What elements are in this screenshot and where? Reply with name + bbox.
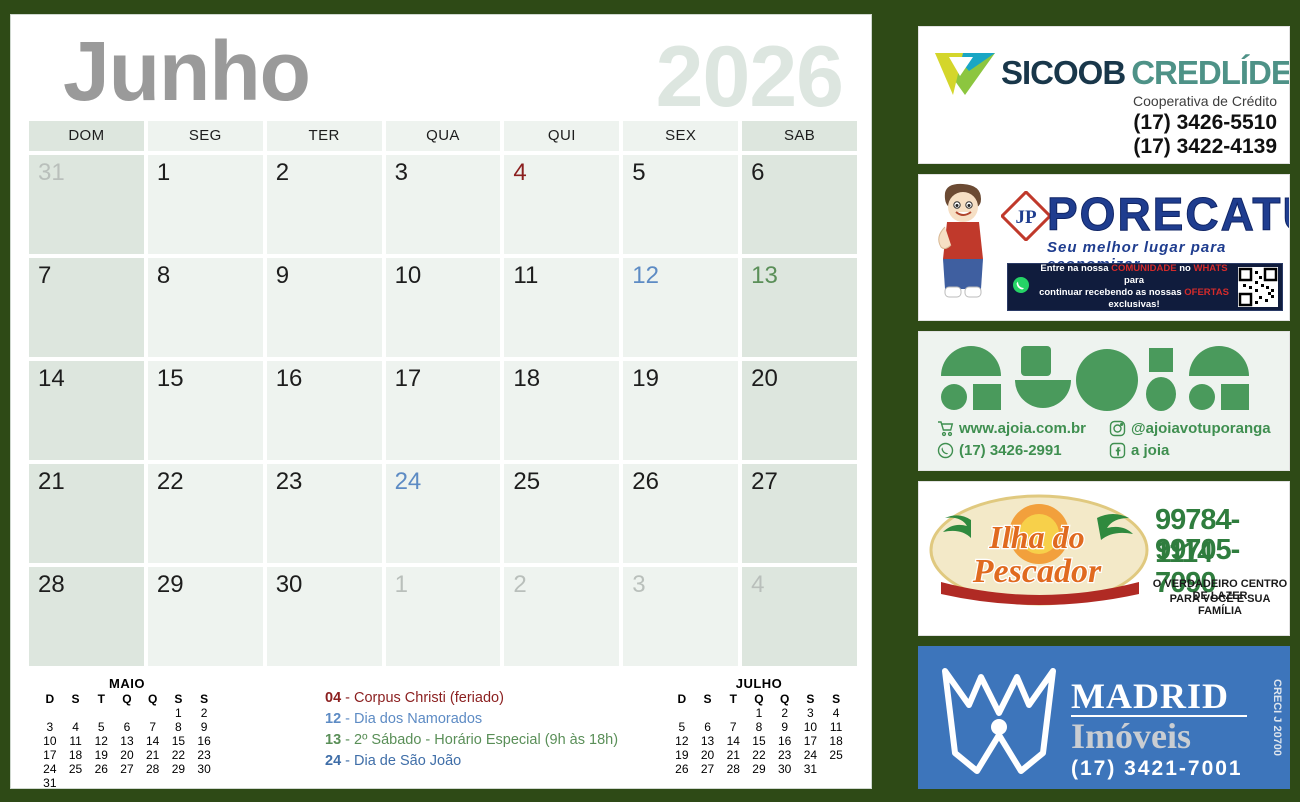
ajoia-facebook-text: a joia (1131, 442, 1169, 459)
day-cell[interactable]: 15 (148, 361, 263, 460)
whatsapp-icon (1012, 276, 1030, 299)
mini-day-cell: 10 (798, 720, 824, 734)
ad-porecatu[interactable]: JP PORECATU Seu melhor lugar para econom… (918, 174, 1290, 321)
mini-day-cell: 6 (695, 720, 721, 734)
mini-day-cell: 19 (88, 748, 114, 762)
mini-day-cell: 13 (114, 734, 140, 748)
mini-day-cell: 23 (772, 748, 798, 762)
mini-day-cell: 9 (191, 720, 217, 734)
mini-day-cell: 18 (823, 734, 849, 748)
mini-day-cell (823, 762, 849, 776)
day-number: 8 (157, 262, 170, 290)
day-cell[interactable]: 24 (386, 464, 501, 563)
ajoia-instagram-text: @ajoiavotuporanga (1131, 420, 1271, 437)
day-cell[interactable]: 7 (29, 258, 144, 357)
event-text: - Corpus Christi (feriado) (341, 690, 504, 706)
year-number: 2026 (656, 33, 843, 121)
day-cell[interactable]: 25 (504, 464, 619, 563)
day-number: 18 (513, 365, 540, 393)
mini-day-cell: 23 (191, 748, 217, 762)
day-cell[interactable]: 3 (623, 567, 738, 666)
mini-day-cell: 22 (746, 748, 772, 762)
day-number: 4 (751, 571, 764, 599)
day-cell[interactable]: 13 (742, 258, 857, 357)
day-cell[interactable]: 3 (386, 155, 501, 254)
day-number: 5 (632, 159, 645, 187)
day-number: 3 (632, 571, 645, 599)
day-cell[interactable]: 14 (29, 361, 144, 460)
mini-day-cell: 1 (166, 706, 192, 720)
day-cell[interactable]: 2 (267, 155, 382, 254)
day-number: 22 (157, 468, 184, 496)
mini-day-cell: 8 (166, 720, 192, 734)
day-cell[interactable]: 18 (504, 361, 619, 460)
day-number: 2 (276, 159, 289, 187)
ajoia-contact-row-1: www.ajoia.com.br @ajoiavotuporanga (937, 420, 1281, 437)
day-number: 7 (38, 262, 51, 290)
ajoia-whatsapp[interactable]: (17) 3426-2991 (937, 442, 1109, 459)
mini-day-cell: 11 (823, 720, 849, 734)
mini-day-cell: 2 (772, 706, 798, 720)
day-number: 20 (751, 365, 778, 393)
day-number: 4 (513, 159, 526, 187)
mini-weekday-header: S (823, 692, 849, 706)
mini-day-cell: 15 (166, 734, 192, 748)
events-list: 04 - Corpus Christi (feriado)12 - Dia do… (325, 688, 655, 772)
credlider-wordmark: CREDLÍDER (1131, 54, 1290, 92)
mini-day-cell: 4 (823, 706, 849, 720)
event-day: 12 (325, 711, 341, 727)
day-cell[interactable]: 27 (742, 464, 857, 563)
event-day: 13 (325, 732, 341, 748)
event-text: - Dia dos Namorados (341, 711, 482, 727)
day-number: 15 (157, 365, 184, 393)
sicoob-triangle-icon (933, 49, 997, 97)
day-number: 13 (751, 262, 778, 290)
ajoia-contact-lines: www.ajoia.com.br @ajoiavotuporanga (17) … (937, 420, 1281, 464)
mini-day-cell: 26 (669, 762, 695, 776)
mini-day-cell: 30 (772, 762, 798, 776)
mini-day-cell: 19 (669, 748, 695, 762)
mini-week-row: 24252627282930 (37, 762, 217, 776)
mini-day-cell: 27 (114, 762, 140, 776)
mini-week-row: 12 (37, 706, 217, 720)
mini-day-cell: 13 (695, 734, 721, 748)
svg-text:JP: JP (1015, 207, 1037, 228)
mini-day-cell: 7 (720, 720, 746, 734)
day-number: 25 (513, 468, 540, 496)
day-cell[interactable]: 8 (148, 258, 263, 357)
day-number: 1 (157, 159, 170, 187)
mini-day-cell: 20 (695, 748, 721, 762)
mini-week-row: 31 (37, 776, 217, 790)
mini-day-cell: 18 (63, 748, 89, 762)
day-cell[interactable]: 4 (742, 567, 857, 666)
mini-day-cell: 8 (746, 720, 772, 734)
day-cell[interactable]: 21 (29, 464, 144, 563)
ad-sicoob-credlider[interactable]: SICOOB CREDLÍDER Cooperativa de Crédito … (918, 26, 1290, 164)
mini-weekday-header: T (88, 692, 114, 706)
mini-week-row: 567891011 (669, 720, 849, 734)
mini-day-cell: 3 (37, 720, 63, 734)
day-number: 3 (395, 159, 408, 187)
cart-icon (937, 420, 954, 437)
weekday-header-sex: SEX (623, 121, 738, 151)
porecatu-mascot-icon (927, 181, 999, 301)
event-item: 04 - Corpus Christi (feriado) (325, 688, 655, 709)
day-number: 1 (395, 571, 408, 599)
day-number: 28 (38, 571, 65, 599)
mini-day-cell: 27 (695, 762, 721, 776)
sicoob-wordmark: SICOOB (1001, 54, 1125, 92)
pescador-tagline-2: PARA VOCÊ E SUA FAMÍLIA (1151, 593, 1289, 617)
day-cell[interactable]: 6 (742, 155, 857, 254)
ajoia-website-text: www.ajoia.com.br (959, 420, 1086, 437)
ad-madrid-imoveis[interactable]: MADRID Imóveis (17) 3421-7001 CRECI J 20… (918, 646, 1290, 789)
mini-day-cell: 31 (798, 762, 824, 776)
day-number: 11 (513, 262, 538, 290)
mini-weekday-header: S (798, 692, 824, 706)
ajoia-instagram[interactable]: @ajoiavotuporanga (1109, 420, 1281, 437)
day-cell[interactable]: 26 (623, 464, 738, 563)
mini-day-cell (63, 706, 89, 720)
day-number: 30 (276, 571, 303, 599)
advertisements-sidebar: SICOOB CREDLÍDER Cooperativa de Crédito … (918, 14, 1290, 789)
mini-day-cell: 9 (772, 720, 798, 734)
mini-day-cell: 15 (746, 734, 772, 748)
qr-code-icon[interactable] (1238, 267, 1278, 307)
event-day: 24 (325, 753, 341, 769)
mini-day-cell: 11 (63, 734, 89, 748)
mini-day-cell: 16 (772, 734, 798, 748)
mini-day-cell: 12 (669, 734, 695, 748)
month-name: Junho (63, 27, 310, 115)
day-number: 10 (395, 262, 422, 290)
madrid-creci-number: CRECI J 20700 (1271, 679, 1283, 756)
day-cell[interactable]: 12 (623, 258, 738, 357)
mini-day-cell: 26 (88, 762, 114, 776)
day-number: 26 (632, 468, 659, 496)
svg-text:Pescador: Pescador (972, 553, 1102, 590)
day-number: 14 (38, 365, 65, 393)
pescador-subtitle: Pesque e Solte | Restaurante (937, 606, 1149, 618)
mini-day-cell (114, 706, 140, 720)
mini-day-cell: 21 (140, 748, 166, 762)
day-number: 2 (513, 571, 526, 599)
calendar-footer: MAIO DSTQQSS1234567891011121314151617181… (29, 676, 857, 798)
day-cell[interactable]: 11 (504, 258, 619, 357)
mini-day-cell: 22 (166, 748, 192, 762)
day-cell[interactable]: 28 (29, 567, 144, 666)
day-cell[interactable]: 16 (267, 361, 382, 460)
day-number: 21 (38, 468, 65, 496)
day-number: 19 (632, 365, 659, 393)
mini-day-cell: 1 (746, 706, 772, 720)
mini-weekday-header: S (695, 692, 721, 706)
mini-day-cell: 3 (798, 706, 824, 720)
mini-week-row: 1234 (669, 706, 849, 720)
instagram-icon (1109, 420, 1126, 437)
porecatu-whatsapp-banner[interactable]: Entre na nossa COMUNIDADE no WHATS parac… (1007, 263, 1283, 311)
mini-day-cell: 17 (37, 748, 63, 762)
porecatu-banner-text: Entre na nossa COMUNIDADE no WHATS parac… (1030, 263, 1238, 311)
mini-day-cell: 28 (720, 762, 746, 776)
day-cell[interactable]: 2 (504, 567, 619, 666)
event-item: 13 - 2º Sábado - Horário Especial (9h às… (325, 730, 655, 751)
mini-week-row: 10111213141516 (37, 734, 217, 748)
mini-weekday-header: D (669, 692, 695, 706)
event-text: - Dia de São João (341, 753, 461, 769)
mini-day-cell (88, 776, 114, 790)
mini-week-row: 17181920212223 (37, 748, 217, 762)
mini-day-cell: 4 (63, 720, 89, 734)
event-day: 04 (325, 690, 341, 706)
day-number: 29 (157, 571, 184, 599)
mini-calendar-previous-table: DSTQQSS123456789101112131415161718192021… (37, 692, 217, 790)
weekday-header-qui: QUI (504, 121, 619, 151)
mini-weekday-header: S (191, 692, 217, 706)
mini-day-cell: 25 (63, 762, 89, 776)
mini-day-cell: 14 (720, 734, 746, 748)
weekday-header-dom: DOM (29, 121, 144, 151)
sicoob-phone-1[interactable]: (17) 3426-5510 (1133, 111, 1277, 135)
mini-day-cell: 29 (166, 762, 192, 776)
ad-ilha-do-pescador[interactable]: Ilha do Pescador Pesque e Solte | Restau… (918, 481, 1290, 636)
day-number: 16 (276, 365, 303, 393)
day-cell[interactable]: 1 (386, 567, 501, 666)
day-cell[interactable]: 29 (148, 567, 263, 666)
sicoob-phone-2[interactable]: (17) 3422-4139 (1133, 135, 1277, 159)
mini-week-row: 19202122232425 (669, 748, 849, 762)
ajoia-whatsapp-text: (17) 3426-2991 (959, 442, 1062, 459)
mini-week-row: 262728293031 (669, 762, 849, 776)
calendar-panel: Junho 2026 DOMSEGTERQUAQUISEXSAB31123456… (10, 14, 872, 789)
mini-day-cell: 20 (114, 748, 140, 762)
mini-day-cell: 16 (191, 734, 217, 748)
mini-day-cell: 28 (140, 762, 166, 776)
mini-weekday-header: T (720, 692, 746, 706)
mini-day-cell (720, 706, 746, 720)
mini-day-cell (140, 706, 166, 720)
day-cell[interactable]: 4 (504, 155, 619, 254)
facebook-icon (1109, 442, 1126, 459)
pescador-logo-icon: Ilha do Pescador (927, 490, 1151, 614)
mini-day-cell (114, 776, 140, 790)
mini-weekday-header: S (63, 692, 89, 706)
mini-day-cell: 6 (114, 720, 140, 734)
mini-day-cell (695, 706, 721, 720)
day-number: 17 (395, 365, 422, 393)
mini-weekday-header: D (37, 692, 63, 706)
mini-day-cell (88, 706, 114, 720)
mini-day-cell: 24 (798, 748, 824, 762)
mini-weekday-header: Q (746, 692, 772, 706)
mini-day-cell (37, 706, 63, 720)
day-cell[interactable]: 31 (29, 155, 144, 254)
day-cell[interactable]: 5 (623, 155, 738, 254)
day-number: 31 (38, 159, 65, 187)
imoveis-wordmark: Imóveis (1071, 715, 1191, 757)
ajoia-contact-row-2: (17) 3426-2991 a joia (937, 442, 1281, 459)
mini-day-cell: 31 (37, 776, 63, 790)
day-cell[interactable]: 23 (267, 464, 382, 563)
weekday-header-qua: QUA (386, 121, 501, 151)
mini-day-cell: 24 (37, 762, 63, 776)
porecatu-diamond-icon: JP (1001, 191, 1051, 241)
day-cell[interactable]: 17 (386, 361, 501, 460)
day-number: 24 (395, 468, 422, 496)
mini-calendar-previous-title: MAIO (37, 676, 217, 691)
madrid-crown-icon (939, 661, 1059, 777)
ajoia-logo-icon (937, 342, 1273, 414)
mini-day-cell: 5 (88, 720, 114, 734)
mini-day-cell (669, 706, 695, 720)
svg-text:Ilha do: Ilha do (988, 519, 1084, 555)
event-item: 24 - Dia de São João (325, 751, 655, 772)
porecatu-wordmark: PORECATU (1047, 187, 1290, 241)
mini-day-cell: 25 (823, 748, 849, 762)
mini-day-cell (63, 776, 89, 790)
sicoob-subtitle: Cooperativa de Crédito (1133, 93, 1277, 109)
mini-day-cell (166, 776, 192, 790)
day-cell[interactable]: 10 (386, 258, 501, 357)
weekday-header-sab: SAB (742, 121, 857, 151)
weekday-header-ter: TER (267, 121, 382, 151)
mini-day-cell: 29 (746, 762, 772, 776)
madrid-wordmark: MADRID (1071, 675, 1229, 717)
day-number: 23 (276, 468, 303, 496)
mini-day-cell: 17 (798, 734, 824, 748)
day-cell[interactable]: 20 (742, 361, 857, 460)
day-number: 9 (276, 262, 289, 290)
mini-calendar-previous: MAIO DSTQQSS1234567891011121314151617181… (37, 676, 217, 790)
day-cell[interactable]: 1 (148, 155, 263, 254)
mini-day-cell (191, 776, 217, 790)
day-number: 12 (632, 262, 659, 290)
mini-day-cell: 5 (669, 720, 695, 734)
mini-day-cell (140, 776, 166, 790)
mini-calendar-next-table: DSTQQSS123456789101112131415161718192021… (669, 692, 849, 776)
mini-weekday-header: Q (772, 692, 798, 706)
event-text: - 2º Sábado - Horário Especial (9h às 18… (341, 732, 618, 748)
day-number: 27 (751, 468, 778, 496)
day-number: 6 (751, 159, 764, 187)
calendar-title-row: Junho 2026 (29, 23, 857, 119)
weekday-header-seg: SEG (148, 121, 263, 151)
ajoia-facebook[interactable]: a joia (1109, 442, 1281, 459)
sicoob-logo-row: SICOOB CREDLÍDER (933, 49, 1279, 97)
day-cell[interactable]: 22 (148, 464, 263, 563)
mini-calendar-next: JULHO DSTQQSS123456789101112131415161718… (669, 676, 849, 776)
mini-calendar-next-title: JULHO (669, 676, 849, 691)
mini-weekday-header: Q (140, 692, 166, 706)
ajoia-website[interactable]: www.ajoia.com.br (937, 420, 1109, 437)
mini-day-cell: 30 (191, 762, 217, 776)
mini-day-cell: 2 (191, 706, 217, 720)
day-cell[interactable]: 30 (267, 567, 382, 666)
calendar-grid: DOMSEGTERQUAQUISEXSAB3112345678910111213… (29, 121, 857, 666)
mini-day-cell: 12 (88, 734, 114, 748)
calendar-inner: Junho 2026 DOMSEGTERQUAQUISEXSAB31123456… (11, 15, 871, 788)
mini-day-cell: 7 (140, 720, 166, 734)
mini-weekday-header: S (166, 692, 192, 706)
mini-day-cell: 14 (140, 734, 166, 748)
madrid-phone[interactable]: (17) 3421-7001 (1071, 757, 1243, 781)
event-item: 12 - Dia dos Namorados (325, 709, 655, 730)
mini-weekday-header: Q (114, 692, 140, 706)
mini-week-row: 3456789 (37, 720, 217, 734)
whatsapp-icon (937, 442, 954, 459)
ad-a-joia[interactable]: www.ajoia.com.br @ajoiavotuporanga (17) … (918, 331, 1290, 471)
mini-week-row: 12131415161718 (669, 734, 849, 748)
mini-day-cell: 21 (720, 748, 746, 762)
day-cell[interactable]: 9 (267, 258, 382, 357)
mini-day-cell: 10 (37, 734, 63, 748)
day-cell[interactable]: 19 (623, 361, 738, 460)
